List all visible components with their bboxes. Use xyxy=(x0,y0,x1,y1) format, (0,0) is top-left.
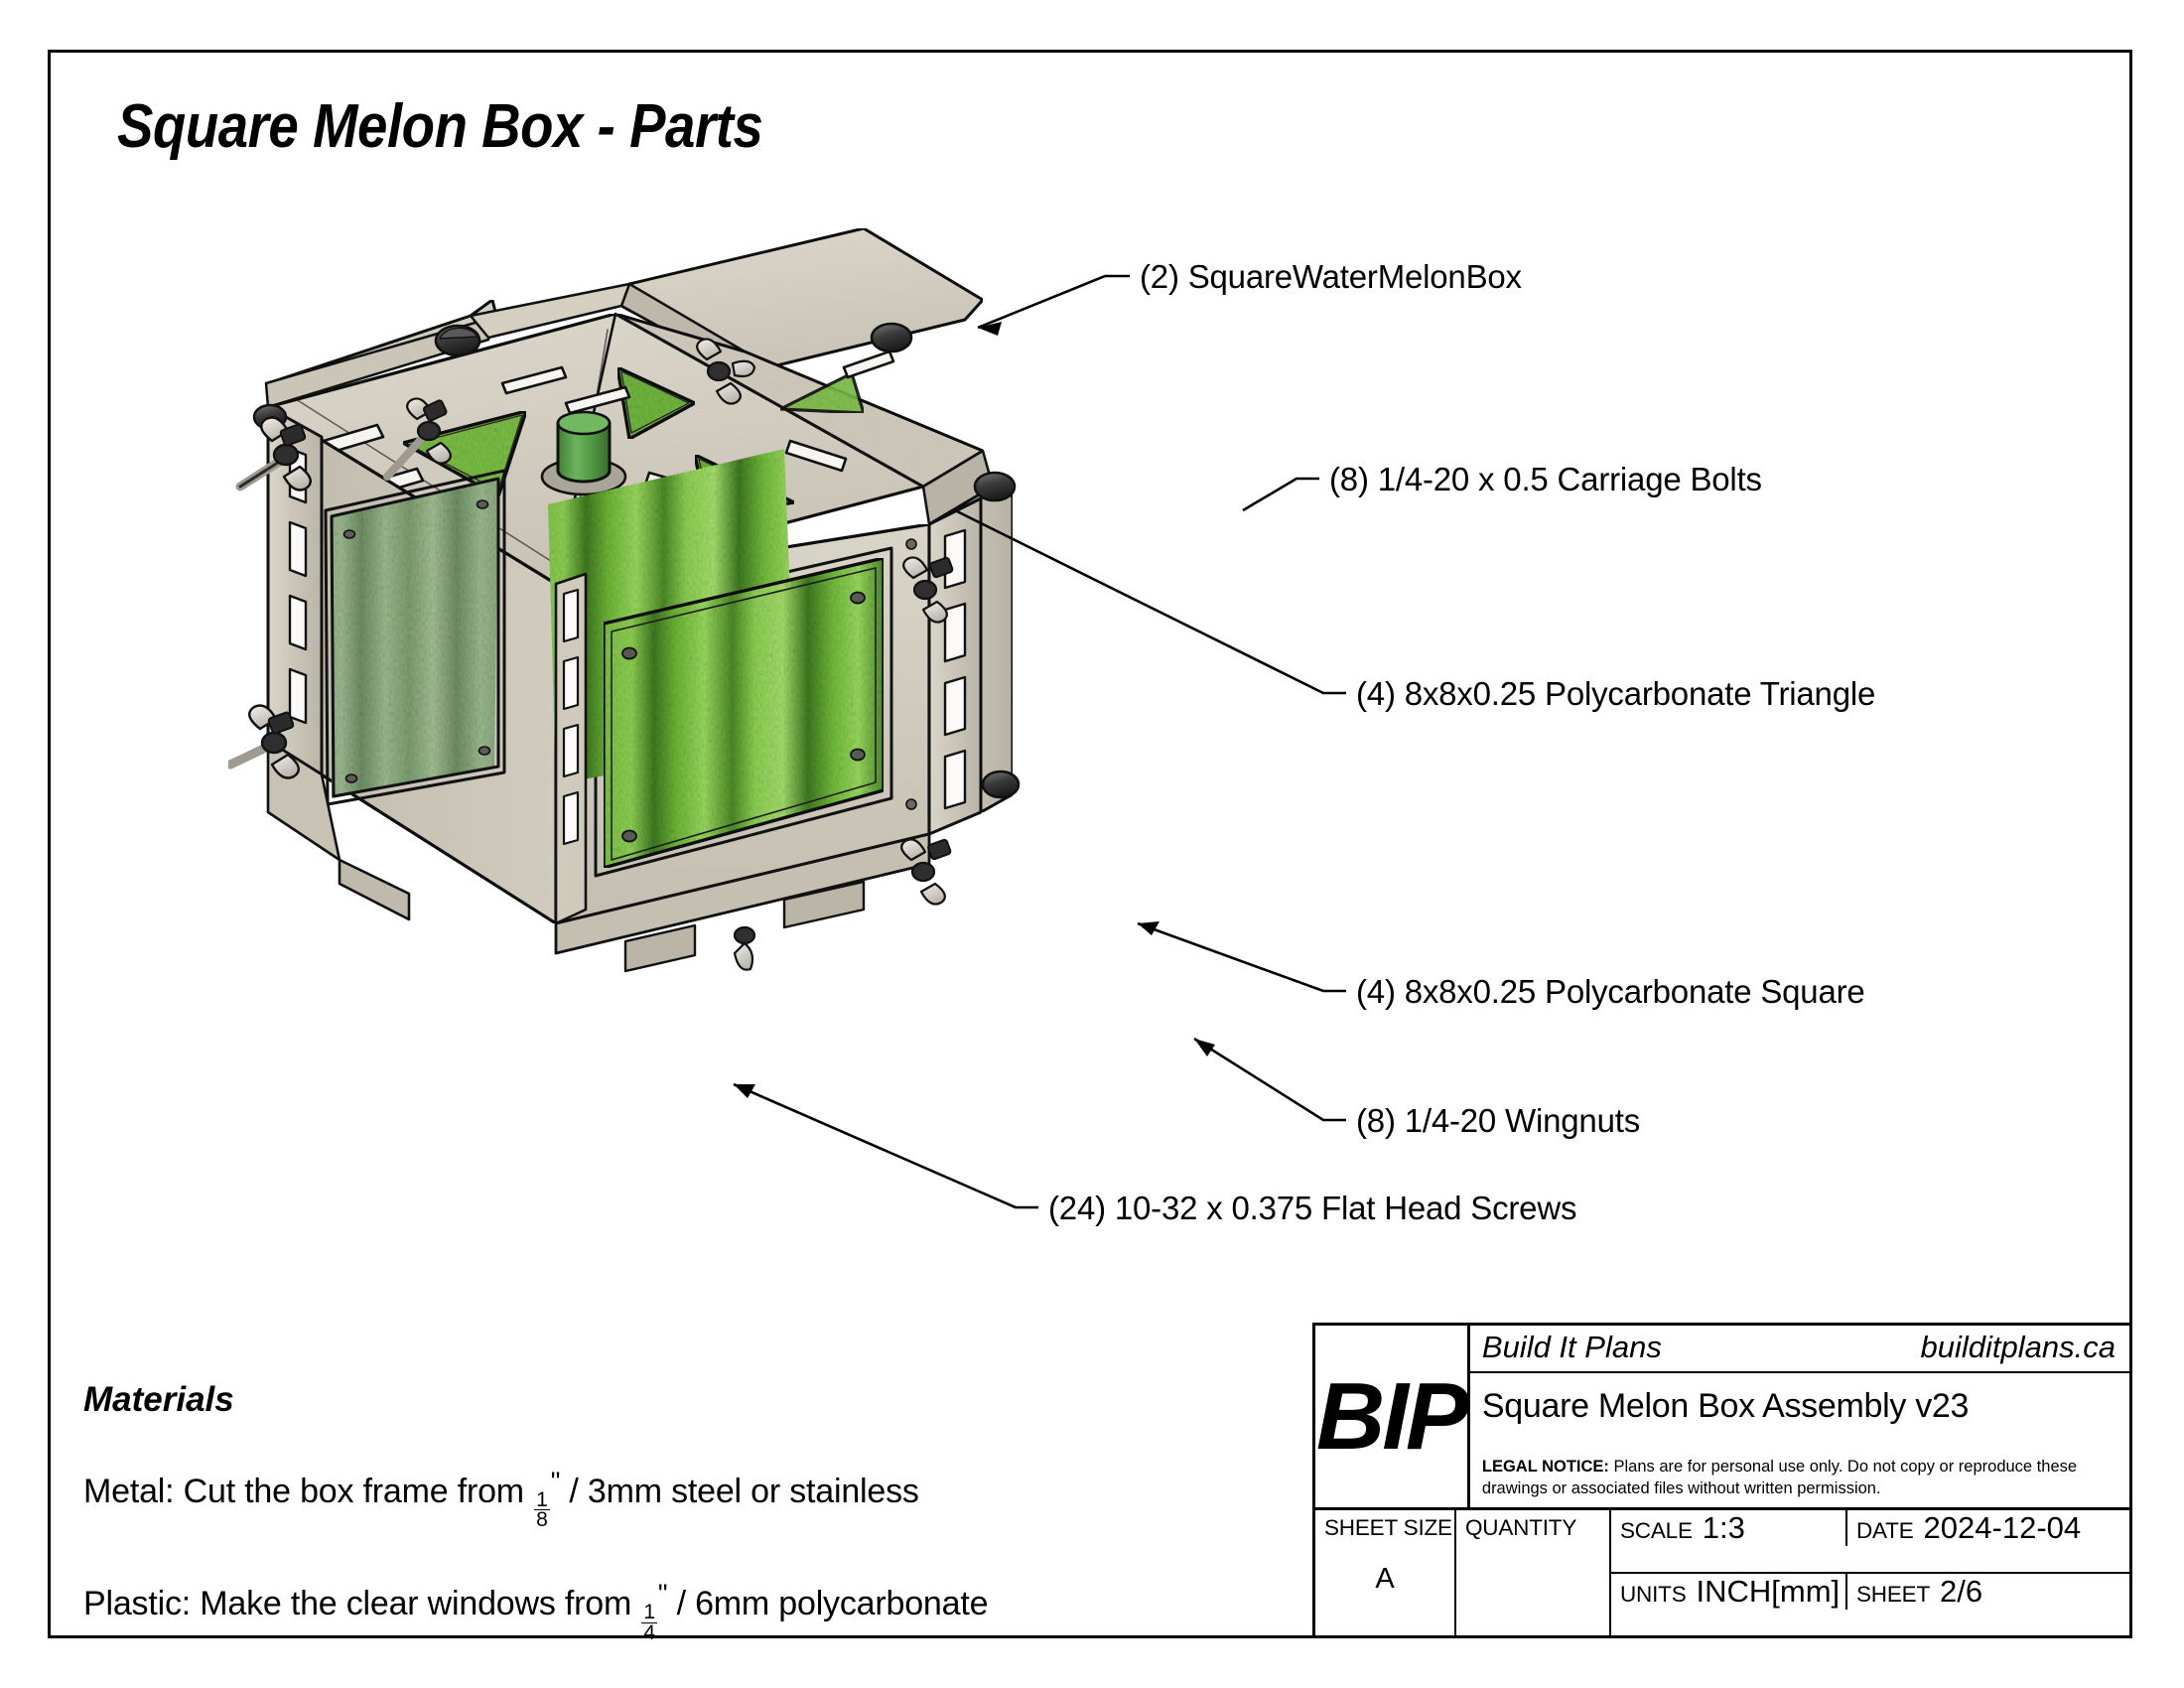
fraction-numerator: 1 xyxy=(534,1490,550,1510)
page-title: Square Melon Box - Parts xyxy=(117,91,762,162)
callout-polycarbonate-triangle: (4) 8x8x0.25 Polycarbonate Triangle xyxy=(1356,675,1875,713)
materials-metal-line: Metal: Cut the box frame from 18" / 3mm … xyxy=(83,1466,1225,1532)
fraction-one-eighth: 18 xyxy=(534,1490,550,1530)
bip-logo: BIP xyxy=(1316,1362,1466,1472)
quantity-cell: QUANTITY xyxy=(1456,1510,1611,1635)
scale-units-stack: SCALE 1:3 DATE 2024-12-04 UNITS INCH[mm]… xyxy=(1611,1510,2129,1635)
materials-section: Materials Metal: Cut the box frame from … xyxy=(83,1380,1225,1645)
callout-flat-head-screws: (24) 10-32 x 0.375 Flat Head Screws xyxy=(1048,1190,1576,1227)
scale-cell: SCALE 1:3 xyxy=(1611,1510,1847,1546)
quantity-label: QUANTITY xyxy=(1456,1510,1609,1541)
units-label: UNITS xyxy=(1620,1576,1687,1608)
units-value: INCH[mm] xyxy=(1697,1574,1841,1610)
document-title: Square Melon Box Assembly v23 xyxy=(1470,1373,2129,1426)
company-name: Build It Plans xyxy=(1482,1330,1662,1365)
fraction-one-quarter: 14 xyxy=(641,1603,657,1642)
scale-date-row: SCALE 1:3 DATE 2024-12-04 xyxy=(1611,1510,2129,1574)
sheet-size-label: SHEET SIZE xyxy=(1315,1510,1454,1541)
callout-polycarbonate-square: (4) 8x8x0.25 Polycarbonate Square xyxy=(1356,973,1865,1011)
units-cell: UNITS INCH[mm] xyxy=(1611,1574,1847,1610)
callout-wingnuts: (8) 1/4-20 Wingnuts xyxy=(1356,1102,1640,1140)
callout-square-watermelon-box: (2) SquareWaterMelonBox xyxy=(1140,258,1522,296)
title-block: BIP Build It Plans builditplans.ca Squar… xyxy=(1312,1323,2132,1638)
materials-plastic-suffix: / 6mm polycarbonate xyxy=(667,1586,988,1623)
legal-notice: LEGAL NOTICE: Plans are for personal use… xyxy=(1470,1456,2129,1507)
title-block-right: Build It Plans builditplans.ca Square Me… xyxy=(1470,1326,2129,1507)
legal-notice-label: LEGAL NOTICE: xyxy=(1482,1458,1609,1476)
sheet-label: SHEET xyxy=(1856,1576,1930,1608)
callout-carriage-bolts: (8) 1/4-20 x 0.5 Carriage Bolts xyxy=(1329,461,1762,498)
materials-plastic-line: Plastic: Make the clear windows from 14"… xyxy=(83,1578,1225,1644)
scale-label: SCALE xyxy=(1620,1512,1693,1544)
materials-metal-prefix: Metal: Cut the box frame from xyxy=(83,1473,533,1510)
isometric-assembly-render xyxy=(228,189,1281,1251)
date-value: 2024-12-04 xyxy=(1924,1510,2082,1546)
inch-mark: " xyxy=(658,1578,667,1609)
materials-heading: Materials xyxy=(83,1380,1225,1420)
website-url[interactable]: builditplans.ca xyxy=(1921,1330,2116,1365)
units-sheet-row: UNITS INCH[mm] SHEET 2/6 xyxy=(1611,1574,2129,1635)
date-cell: DATE 2024-12-04 xyxy=(1847,1510,2129,1546)
sheet-number-cell: SHEET 2/6 xyxy=(1847,1574,2129,1610)
fraction-denominator: 8 xyxy=(534,1510,550,1529)
logo-cell: BIP xyxy=(1315,1326,1470,1507)
fraction-denominator: 4 xyxy=(641,1623,657,1642)
date-label: DATE xyxy=(1856,1512,1914,1544)
materials-plastic-prefix: Plastic: Make the clear windows from xyxy=(83,1586,640,1623)
sheet-value: 2/6 xyxy=(1940,1574,1982,1610)
title-block-lower: SHEET SIZE A QUANTITY SCALE 1:3 DATE 202… xyxy=(1315,1510,2129,1635)
materials-metal-suffix: / 3mm steel or stainless xyxy=(560,1473,919,1510)
brand-row: Build It Plans builditplans.ca xyxy=(1470,1326,2129,1373)
inch-mark: " xyxy=(551,1466,560,1496)
sheet-size-value: A xyxy=(1315,1563,1454,1596)
fraction-numerator: 1 xyxy=(641,1603,657,1622)
scale-value: 1:3 xyxy=(1703,1510,1745,1546)
sheet-size-cell: SHEET SIZE A xyxy=(1315,1510,1456,1635)
title-block-upper: BIP Build It Plans builditplans.ca Squar… xyxy=(1315,1326,2129,1510)
